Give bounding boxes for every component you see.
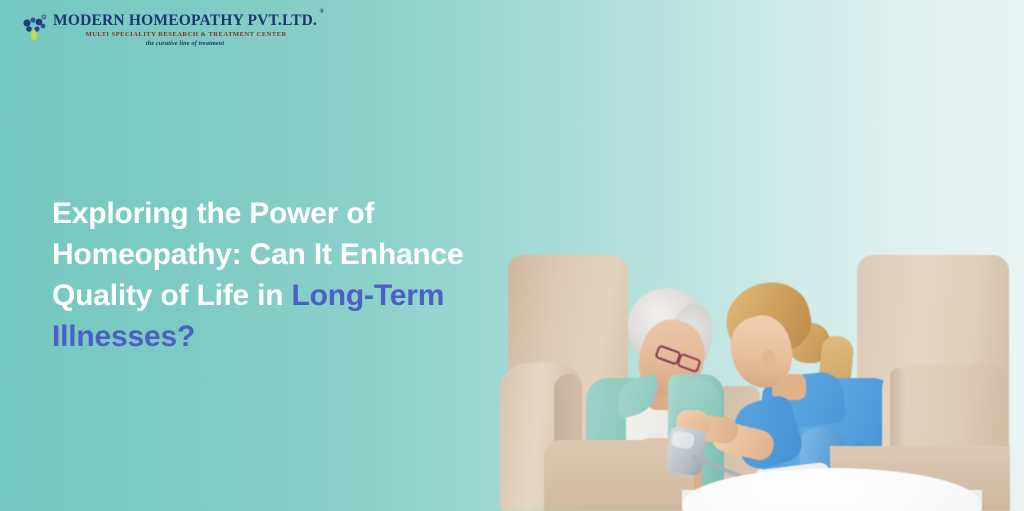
- nurse-ear: [762, 350, 776, 368]
- hero-photo-scene: [500, 228, 1024, 511]
- headline-line-2: Homeopathy: Can It Enhance: [52, 238, 464, 271]
- headline-accent-1: Long-Term: [292, 279, 445, 312]
- marketing-banner: R MODERN HOMEOPATHY PVT.LTD.® MULTI SPEC…: [0, 0, 1024, 511]
- blood-pressure-cuff-display: [671, 431, 695, 450]
- headline-line-1: Exploring the Power of: [52, 197, 374, 230]
- headline-accent-2: Illnesses?: [52, 320, 195, 353]
- logo-tagline: the curative line of treatment: [53, 40, 317, 47]
- molecule-leaf-logo-mark: R: [20, 14, 50, 44]
- svg-text:R: R: [43, 16, 45, 20]
- headline-line-3: Quality of Life in: [52, 279, 292, 312]
- logo-subtitle: MULTI SPECIALITY RESEARCH & TREATMENT CE…: [53, 31, 317, 38]
- logo-company-name: MODERN HOMEOPATHY PVT.LTD.®: [53, 13, 317, 29]
- hero-photo: [500, 228, 1024, 511]
- page-title: Exploring the Power of Homeopathy: Can I…: [52, 193, 522, 357]
- logo-company-name-text: MODERN HOMEOPATHY PVT.LTD.: [53, 12, 317, 29]
- logo-text-block: MODERN HOMEOPATHY PVT.LTD.® MULTI SPECIA…: [53, 12, 317, 47]
- registered-trademark-icon: ®: [319, 9, 324, 15]
- company-logo[interactable]: R MODERN HOMEOPATHY PVT.LTD.® MULTI SPEC…: [20, 12, 317, 47]
